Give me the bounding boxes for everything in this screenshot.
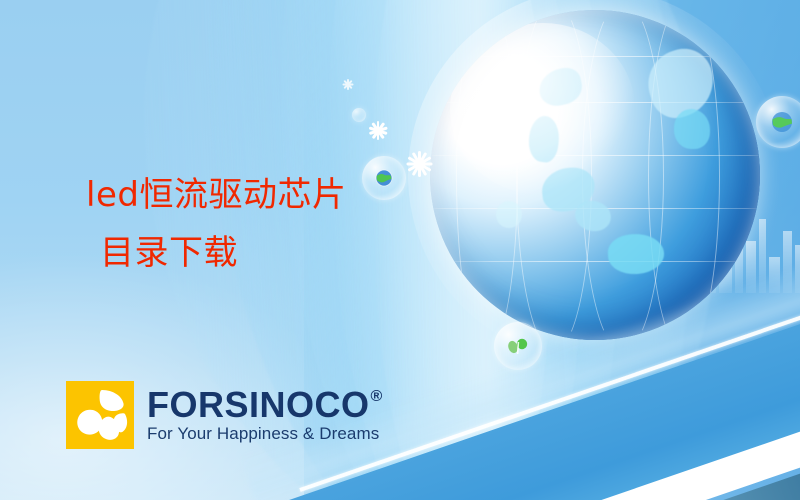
- brand-tagline: For Your Happiness & Dreams: [147, 424, 383, 444]
- bubble-globe-icon: [362, 156, 406, 200]
- brand-logo[interactable]: FORSINOCO® For Your Happiness & Dreams: [66, 381, 383, 449]
- bubble-corner-icon: [756, 96, 800, 148]
- globe-icon: [768, 108, 796, 136]
- bubble-small-plain: [352, 108, 366, 122]
- earth-globe-icon: [430, 10, 760, 340]
- bubble-leaf-icon: [494, 322, 542, 370]
- globe-rim: [430, 10, 760, 340]
- headline-line-1: led恒流驱动芯片: [86, 175, 346, 215]
- promo-banner: led恒流驱动芯片 目录下载 FORSINOCO® For Your Happi…: [0, 0, 800, 500]
- leaf-sprout-icon: [505, 333, 531, 359]
- globe-icon: [373, 167, 395, 189]
- sparkle-flower-icon: [368, 120, 388, 140]
- sparkle-flower-icon: [342, 78, 354, 90]
- logo-text-block: FORSINOCO® For Your Happiness & Dreams: [147, 387, 383, 444]
- brand-name: FORSINOCO®: [147, 387, 383, 422]
- four-petal-flower-icon: [66, 381, 134, 449]
- headline-line-2: 目录下载: [86, 224, 346, 282]
- registered-trademark-icon: ®: [371, 389, 383, 405]
- sparkle-flower-icon: [405, 150, 433, 178]
- page-title: led恒流驱动芯片 目录下载: [86, 166, 346, 283]
- brand-name-text: FORSINOCO: [147, 387, 370, 422]
- globe-sphere: [430, 10, 760, 340]
